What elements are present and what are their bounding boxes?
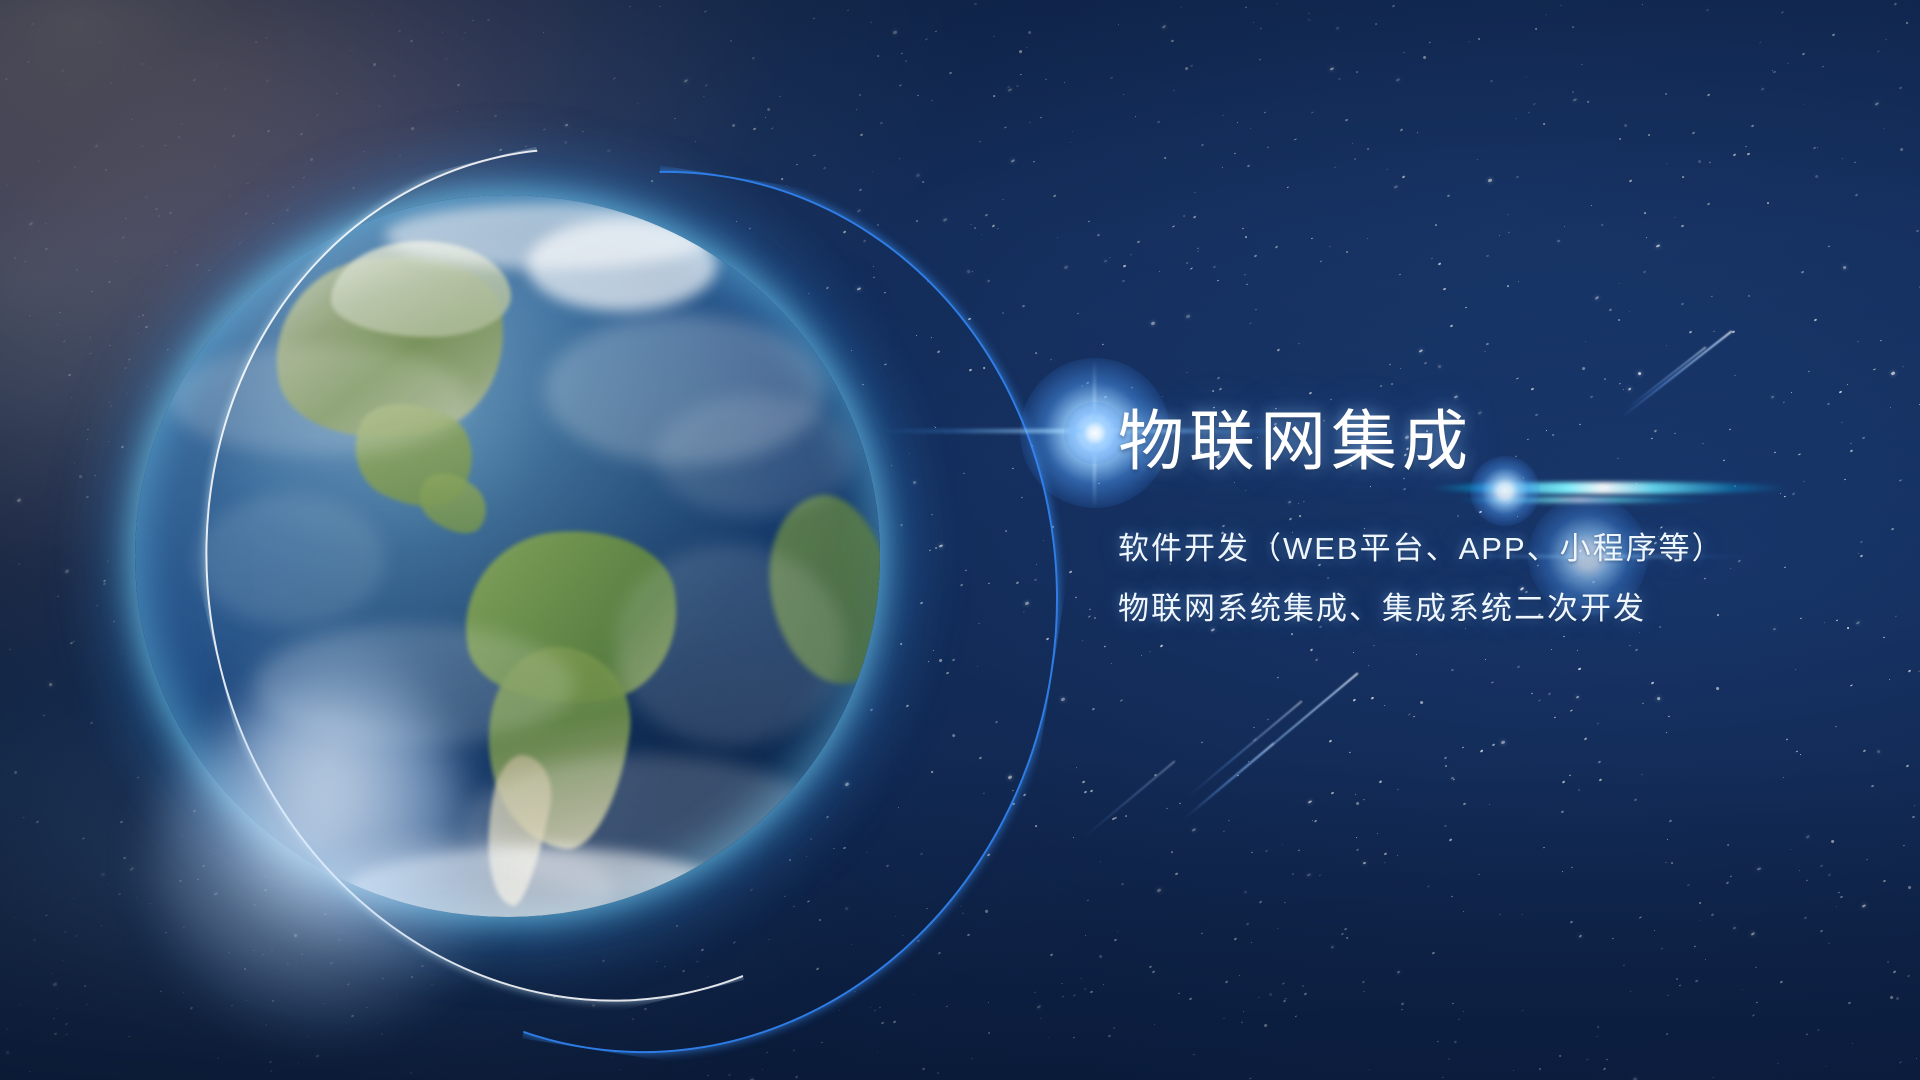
cloud-wisp-graphic-2 bbox=[230, 640, 450, 920]
meteor-streak-3 bbox=[1181, 672, 1358, 821]
meteor-streak-1 bbox=[1621, 330, 1733, 418]
meteor-streak-2 bbox=[1627, 346, 1707, 409]
hero-text-block: 物联网集成 软件开发（WEB平台、APP、小程序等） 物联网系统集成、集成系统二… bbox=[1118, 408, 1838, 624]
subtitle-line-1: 软件开发（WEB平台、APP、小程序等） bbox=[1118, 533, 1838, 564]
hero-banner: 物联网集成 软件开发（WEB平台、APP、小程序等） 物联网系统集成、集成系统二… bbox=[0, 0, 1920, 1080]
meteor-streak-4 bbox=[1186, 700, 1302, 798]
page-title: 物联网集成 bbox=[1118, 408, 1838, 474]
lens-flare-core-bright bbox=[1064, 402, 1126, 464]
meteor-streak-5 bbox=[1189, 742, 1275, 814]
meteor-streak-6 bbox=[1082, 760, 1175, 839]
subtitle-line-2: 物联网系统集成、集成系统二次开发 bbox=[1118, 593, 1838, 624]
